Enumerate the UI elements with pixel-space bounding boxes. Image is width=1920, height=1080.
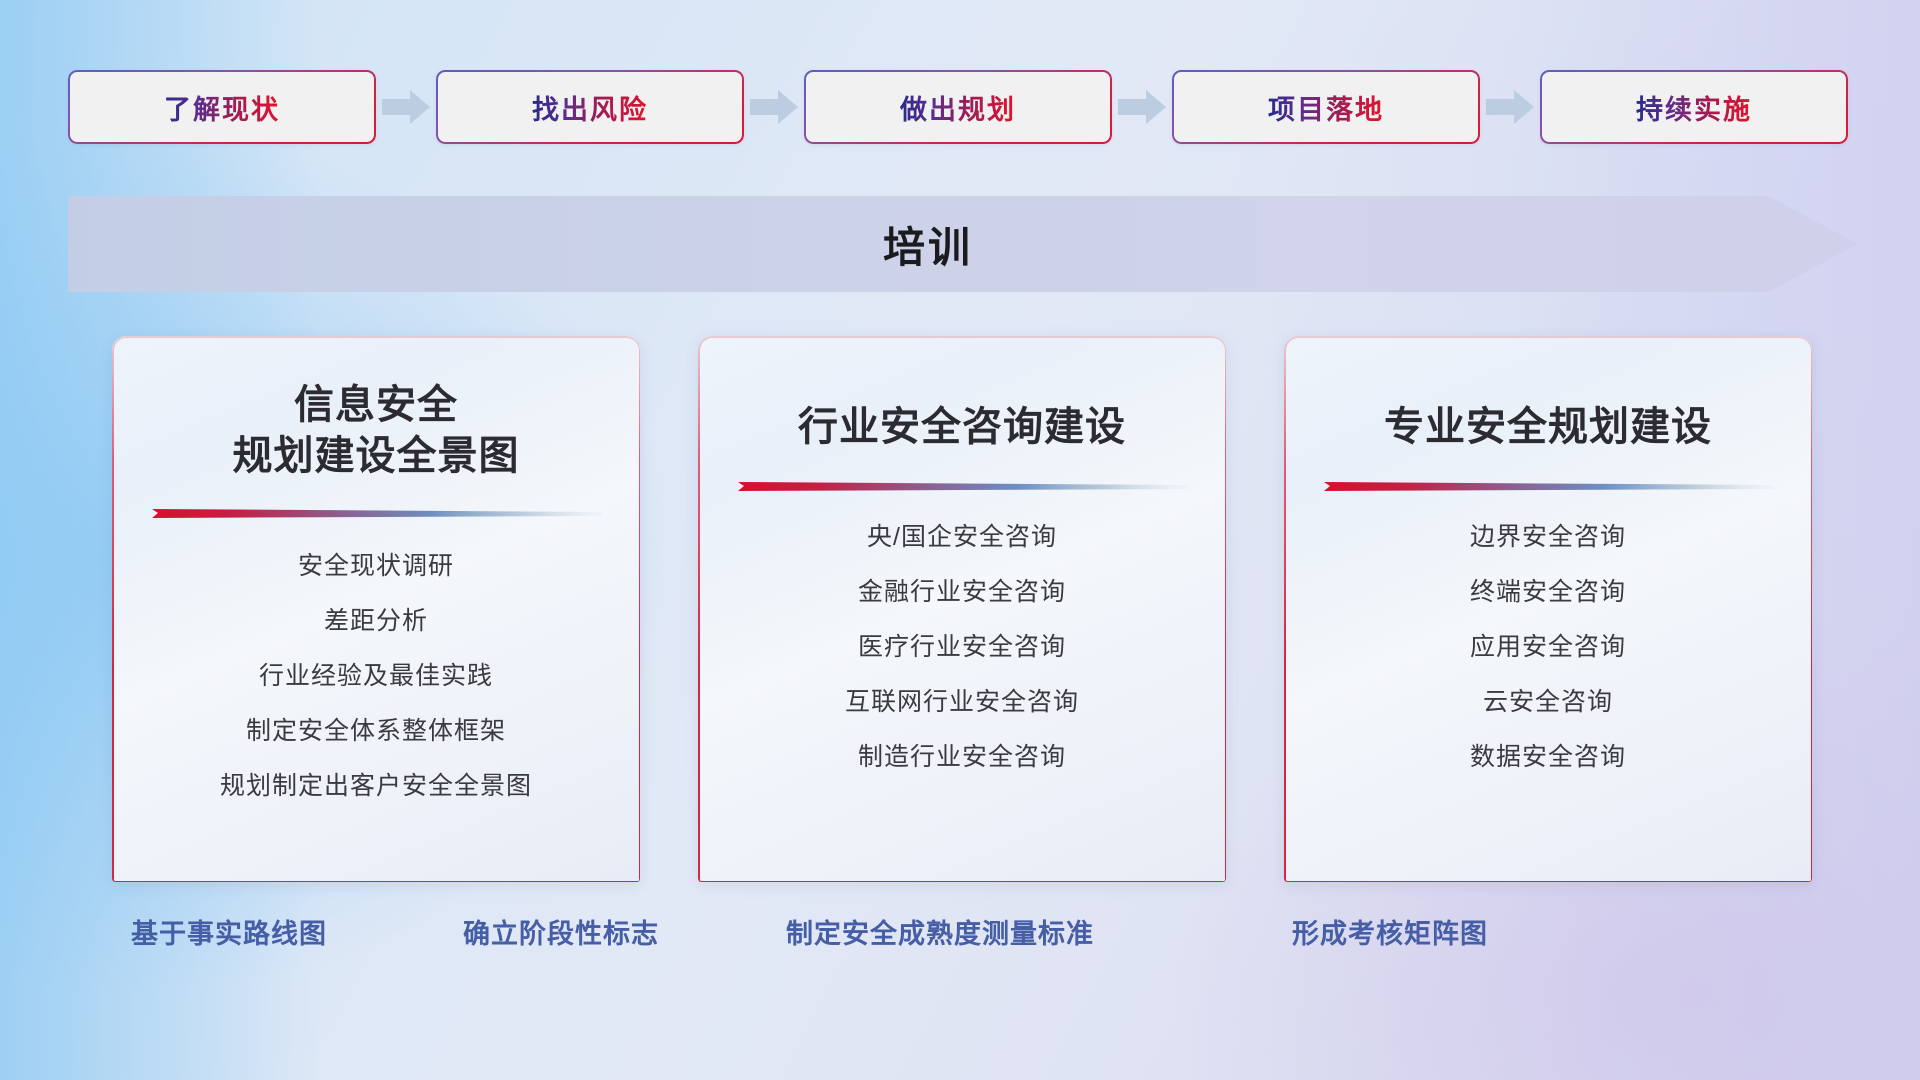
right-arrow-icon [744,87,804,127]
footer-note: 制定安全成熟度测量标准 [786,912,1094,951]
process-step-row: 了解现状 找出风险 做出规划 项目落地 [68,68,1852,146]
right-arrow-icon [1112,87,1172,127]
gradient-divider [736,479,1188,493]
list-item[interactable]: 互联网行业安全咨询 [728,690,1196,715]
list-item[interactable]: 云安全咨询 [1314,690,1782,715]
footer-note: 确立阶段性标志 [463,912,659,951]
process-step-0[interactable]: 了解现状 [68,70,376,144]
list-item[interactable]: 行业经验及最佳实践 [142,664,610,689]
process-step-3[interactable]: 项目落地 [1172,70,1480,144]
list-item[interactable]: 金融行业安全咨询 [728,580,1196,605]
card-title: 专业安全规划建设 [1314,402,1782,453]
card-title-line1: 专业安全规划建设 [1384,405,1712,449]
list-item[interactable]: 应用安全咨询 [1314,635,1782,660]
card-title: 行业安全咨询建设 [728,402,1196,453]
card-item-list: 央/国企安全咨询 金融行业安全咨询 医疗行业安全咨询 互联网行业安全咨询 制造行… [728,525,1196,770]
card-item-list: 边界安全咨询 终端安全咨询 应用安全咨询 云安全咨询 数据安全咨询 [1314,525,1782,770]
right-arrow-icon [1480,87,1540,127]
capability-card-1[interactable]: 信息安全 规划建设全景图 [112,336,640,882]
slide-canvas: 了解现状 找出风险 做出规划 项目落地 [0,0,1920,1080]
card-row: 信息安全 规划建设全景图 [112,336,1812,882]
list-item[interactable]: 终端安全咨询 [1314,580,1782,605]
footer-note: 基于事实路线图 [131,912,327,951]
gradient-divider [1322,479,1774,493]
gradient-divider [150,506,602,520]
card-title-line2: 规划建设全景图 [142,431,610,482]
list-item[interactable]: 制定安全体系整体框架 [142,719,610,744]
list-item[interactable]: 央/国企安全咨询 [728,525,1196,550]
right-arrow-icon [376,87,436,127]
card-item-list: 安全现状调研 差距分析 行业经验及最佳实践 制定安全体系整体框架 规划制定出客户… [142,554,610,799]
list-item[interactable]: 医疗行业安全咨询 [728,635,1196,660]
list-item[interactable]: 差距分析 [142,609,610,634]
process-step-label: 了解现状 [164,88,280,127]
process-step-2[interactable]: 做出规划 [804,70,1112,144]
list-item[interactable]: 安全现状调研 [142,554,610,579]
footer-note-row: 基于事实路线图 确立阶段性标志 制定安全成熟度测量标准 形成考核矩阵图 [0,912,1920,972]
banner-label: 培训 [68,196,1788,292]
process-step-1[interactable]: 找出风险 [436,70,744,144]
process-step-label: 做出规划 [900,88,1016,127]
training-banner: 培训 [68,196,1858,292]
process-step-label: 持续实施 [1636,88,1752,127]
process-step-label: 找出风险 [532,88,648,127]
card-title-line1: 信息安全 [294,383,458,427]
list-item[interactable]: 制造行业安全咨询 [728,745,1196,770]
process-step-4[interactable]: 持续实施 [1540,70,1848,144]
list-item[interactable]: 边界安全咨询 [1314,525,1782,550]
list-item[interactable]: 规划制定出客户安全全景图 [142,774,610,799]
card-title-line1: 行业安全咨询建设 [798,405,1126,449]
process-step-label: 项目落地 [1268,88,1384,127]
list-item[interactable]: 数据安全咨询 [1314,745,1782,770]
capability-card-3[interactable]: 专业安全规划建设 [1284,336,1812,882]
capability-card-2[interactable]: 行业安全咨询建设 [698,336,1226,882]
footer-note: 形成考核矩阵图 [1292,912,1488,951]
card-title: 信息安全 规划建设全景图 [142,380,610,482]
